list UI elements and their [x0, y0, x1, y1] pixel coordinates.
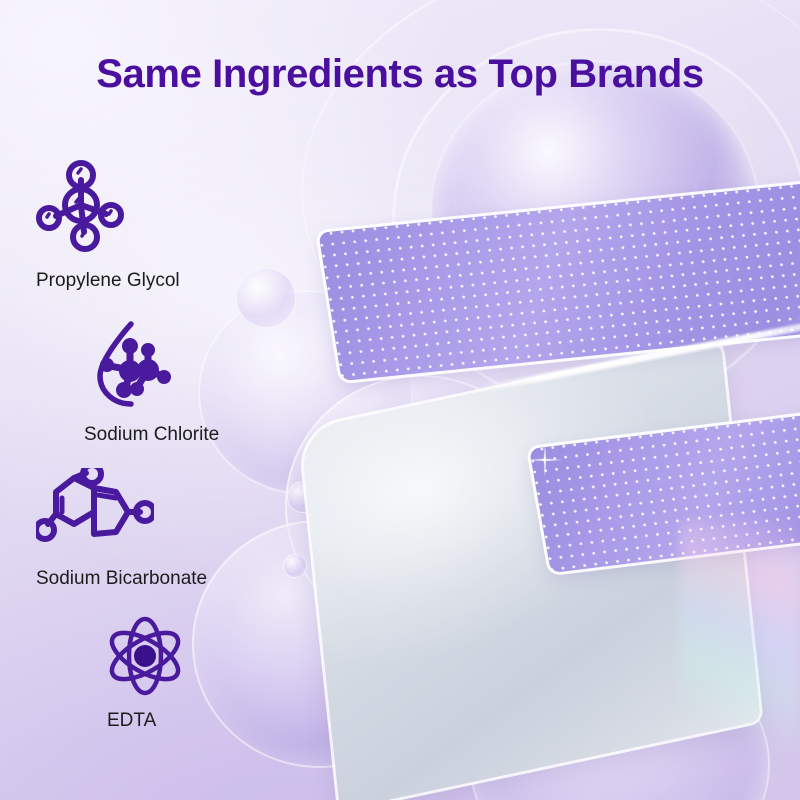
droplet-molecule-icon	[86, 318, 176, 415]
ingredient-item-sodium-bicarbonate: Sodium Bicarbonate	[36, 468, 207, 588]
ingredient-item-sodium-chlorite: Sodium Chlorite	[86, 318, 219, 444]
ingredient-label: Sodium Bicarbonate	[36, 569, 207, 588]
ingredient-label: Propylene Glycol	[36, 271, 180, 290]
product-infographic: Same Ingredients as Top Brands	[0, 0, 800, 800]
atom-icon	[105, 616, 185, 701]
ingredient-label: Sodium Chlorite	[84, 425, 219, 444]
iridescent-edge-highlight	[680, 520, 800, 750]
ingredient-item-edta: EDTA	[105, 616, 185, 730]
molecule-node-icon	[34, 158, 130, 259]
ingredient-item-propylene-glycol: Propylene Glycol	[34, 158, 180, 290]
hexagon-ring-molecule-icon	[36, 468, 154, 557]
page-title: Same Ingredients as Top Brands	[0, 52, 800, 97]
ingredient-label: EDTA	[107, 711, 156, 730]
